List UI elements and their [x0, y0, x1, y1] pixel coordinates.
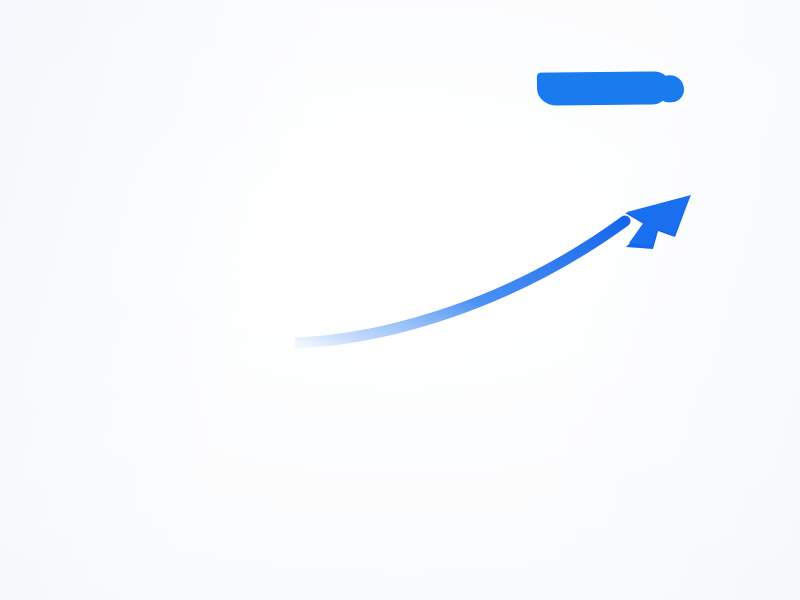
header-block	[0, 32, 800, 50]
title-highlight-stroke	[537, 71, 670, 105]
growth-arrow-icon	[295, 185, 700, 360]
